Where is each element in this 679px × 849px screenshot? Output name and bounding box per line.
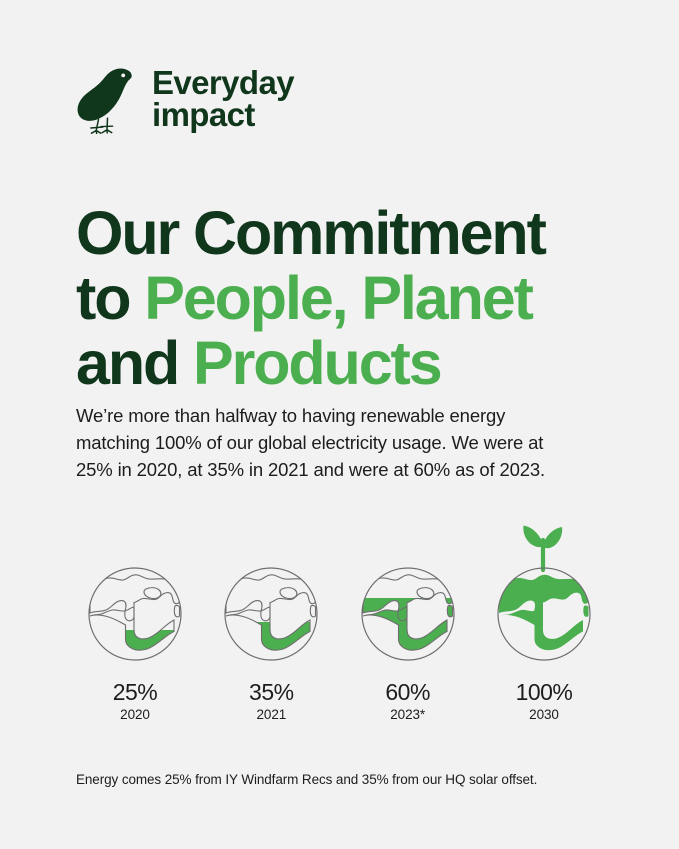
headline-line-3: and Products <box>76 331 636 396</box>
globe-item: 35% 2021 <box>212 512 330 722</box>
headline-line-3-prefix: and <box>76 329 193 397</box>
sprout-icon <box>523 525 562 570</box>
headline-line-1: Our Commitment <box>76 201 636 266</box>
logo-wordmark: Everyday impact <box>152 67 294 131</box>
globe-item: 25% 2020 <box>76 512 194 722</box>
infographic-page: Everyday impact Our Commitment to People… <box>0 0 679 849</box>
headline-line-1-text: Our Commitment <box>76 199 545 267</box>
globe-sprout-icon <box>488 512 600 672</box>
globe-percent-label: 35% <box>249 680 294 705</box>
headline-line-2-prefix: to <box>76 264 144 332</box>
globe-percent-label: 100% <box>516 680 573 705</box>
globe-year-label: 2020 <box>120 707 150 722</box>
brand-logo: Everyday impact <box>76 64 294 134</box>
intro-paragraph: We’re more than halfway to having renewa… <box>76 402 556 484</box>
page-title: Our Commitment to People, Planet and Pro… <box>76 201 636 397</box>
bird-icon <box>76 64 138 134</box>
headline-line-2: to People, Planet <box>76 266 636 331</box>
globe-item: 60% 2023* <box>349 512 467 722</box>
globe-year-label: 2021 <box>257 707 287 722</box>
globe-item: 100% 2030 <box>485 512 603 722</box>
globe-year-label: 2030 <box>529 707 559 722</box>
globe-percent-label: 25% <box>113 680 158 705</box>
globe-icon <box>352 512 464 672</box>
globe-icon <box>215 512 327 672</box>
progress-globes-row: 25% 2020 35% 2021 <box>76 492 603 722</box>
footnote: Energy comes 25% from IY Windfarm Recs a… <box>76 772 616 787</box>
globe-icon <box>79 512 191 672</box>
logo-wordmark-line2: impact <box>152 96 255 133</box>
headline-line-2-accent: People, Planet <box>144 264 532 332</box>
headline-line-3-accent: Products <box>193 329 441 397</box>
globe-percent-label: 60% <box>385 680 430 705</box>
globe-year-label: 2023* <box>390 707 425 722</box>
